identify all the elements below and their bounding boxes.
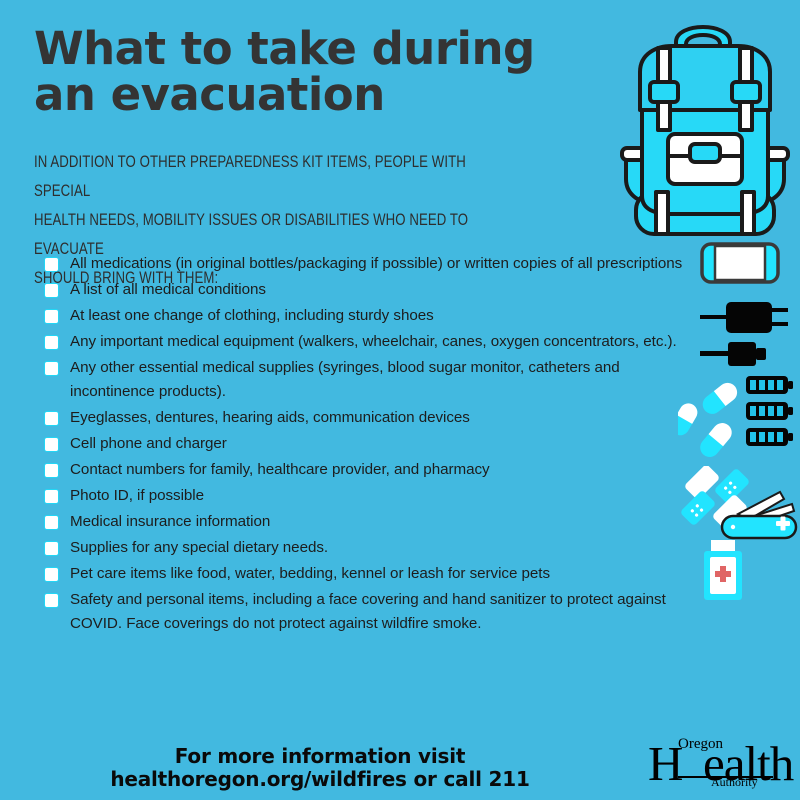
checklist-item[interactable]: Any other essential medical supplies (sy… [44,356,694,404]
checklist-item[interactable]: Pet care items like food, water, bedding… [44,562,694,586]
checklist-item-label: Photo ID, if possible [70,484,694,508]
checklist-item[interactable]: Medical insurance information [44,510,694,534]
checklist-item[interactable]: Safety and personal items, including a f… [44,588,694,636]
checkbox-icon[interactable] [44,567,59,582]
logo-health-rest: ealth [703,739,793,788]
checkbox-icon[interactable] [44,411,59,426]
checklist-item-label: Cell phone and charger [70,432,694,456]
checkbox-icon[interactable] [44,489,59,504]
checkbox-icon[interactable] [44,463,59,478]
checklist-item[interactable]: Cell phone and charger [44,432,694,456]
checkbox-icon[interactable] [44,335,59,350]
checklist-item-label: Any important medical equipment (walkers… [70,330,694,354]
checklist-item[interactable]: Any important medical equipment (walkers… [44,330,694,354]
checkbox-icon[interactable] [44,593,59,608]
pocket-knife-icon [718,490,800,540]
checklist-item-label: Supplies for any special dietary needs. [70,536,694,560]
checklist-item-label: Pet care items like food, water, bedding… [70,562,694,586]
charger-plug-icon [700,300,796,336]
checklist-item-label: Contact numbers for family, healthcare p… [70,458,694,482]
checkbox-icon[interactable] [44,257,59,272]
checkbox-icon[interactable] [44,515,59,530]
checklist-item-label: Any other essential medical supplies (sy… [70,356,694,404]
checkbox-icon[interactable] [44,361,59,376]
checklist-item[interactable]: At least one change of clothing, includi… [44,304,694,328]
checklist-item-label: Medical insurance information [70,510,694,534]
checklist-item[interactable]: A list of all medical conditions [44,278,694,302]
backpack-icon [612,14,798,242]
checkbox-icon[interactable] [44,541,59,556]
checkbox-icon[interactable] [44,437,59,452]
checklist-item-label: A list of all medical conditions [70,278,694,302]
checkbox-icon[interactable] [44,309,59,324]
checklist-item[interactable]: Contact numbers for family, healthcare p… [44,458,694,482]
evacuation-checklist: All medications (in original bottles/pac… [44,252,694,638]
charger-cable-icon [700,340,780,368]
checklist-item[interactable]: Eyeglasses, dentures, hearing aids, comm… [44,406,694,430]
checklist-item-label: At least one change of clothing, includi… [70,304,694,328]
page-title: What to take during an evacuation [34,26,594,118]
batteries-icon [744,374,796,448]
checkbox-icon[interactable] [44,283,59,298]
oregon-health-authority-logo: H Oregon Authority ealth [648,737,790,795]
infographic-page: What to take during an evacuation IN ADD… [0,0,800,800]
footer-contact-info: For more information visit healthoregon.… [0,745,640,791]
checklist-item-label: Eyeglasses, dentures, hearing aids, comm… [70,406,694,430]
checklist-item-label: Safety and personal items, including a f… [70,588,694,636]
checklist-item[interactable]: Supplies for any special dietary needs. [44,536,694,560]
checklist-item[interactable]: All medications (in original bottles/pac… [44,252,694,276]
medicine-bottle-icon [700,540,746,606]
phone-icon [700,242,780,284]
checklist-item[interactable]: Photo ID, if possible [44,484,694,508]
checklist-item-label: All medications (in original bottles/pac… [70,252,694,276]
